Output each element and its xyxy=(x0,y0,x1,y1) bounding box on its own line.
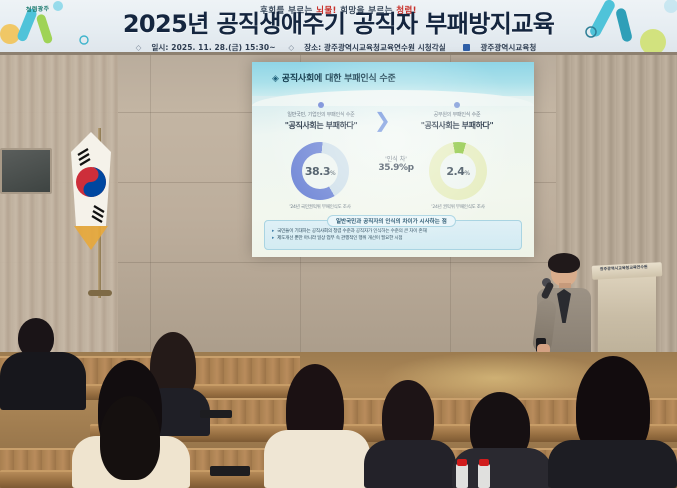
photo-scene: 청렴광주 후회를 부르는 뇌물! 희망을 부르는 청렴! 2025년 공직생애주… xyxy=(0,0,677,488)
tablet-device xyxy=(200,410,232,418)
slide-title-bullet-icon: ◈ xyxy=(272,74,279,84)
right-caption: 공무원의 부패인식 수준 xyxy=(402,111,512,118)
slide-title: ◈공직사회에 대한 부패인식 수준 xyxy=(272,71,396,84)
taegukgi-icon xyxy=(66,130,116,255)
event-banner: 청렴광주 후회를 부르는 뇌물! 희망을 부르는 청렴! 2025년 공직생애주… xyxy=(0,0,677,55)
donut-left-source: '24년 국민권익위 부패인식도 조사 xyxy=(274,204,366,210)
right-quote: "공직사회는 부패하다" xyxy=(402,120,512,131)
insight-tab-label: 일반국민과 공직자의 인식의 차이가 시사하는 점 xyxy=(327,215,456,227)
donut-left-value: 38.3% xyxy=(305,165,335,178)
donut-right-source: '24년 권익위 부패인식도 조사 xyxy=(412,204,504,210)
donut-chart-left: 38.3% '24년 국민권익위 부패인식도 조사 xyxy=(274,142,366,210)
donut-right-ring: 2.4% xyxy=(429,142,487,200)
list-item: 국민들이 기대하는 공직사회의 청렴 수준과 공직자가 인식하는 수준의 큰 차… xyxy=(272,228,521,235)
tablet-device xyxy=(210,466,250,476)
insight-bullet-list: 국민들이 기대하는 공직사회의 청렴 수준과 공직자가 인식하는 수준의 큰 차… xyxy=(272,228,521,242)
banner-date: 일시: 2025. 11. 28.(금) 15:30~ xyxy=(151,43,275,52)
banner-subtitle: ◇일시: 2025. 11. 28.(금) 15:30~ ◇장소: 광주광역시교… xyxy=(0,42,677,53)
podium-top: 광주광역시교육청교육연수원 xyxy=(592,262,663,280)
bottle-cap-icon xyxy=(479,459,489,466)
projection-screen: ◈공직사회에 대한 부패인식 수준 일반국민, 기업인의 부패인식 수준 "공직… xyxy=(252,62,534,257)
donut-chart-right: 2.4% '24년 권익위 부패인식도 조사 xyxy=(412,142,504,210)
insight-box: 일반국민과 공직자의 인식의 차이가 시사하는 점 국민들이 기대하는 공직사회… xyxy=(264,220,522,250)
wall-panel xyxy=(0,148,52,194)
left-caption: 일반국민, 기업인의 부패인식 수준 xyxy=(266,111,376,118)
slide-left-column: 일반국민, 기업인의 부패인식 수준 "공직사회는 부패하다" xyxy=(266,102,376,131)
slide-right-column: 공무원의 부패인식 수준 "공직사회는 부패하다" xyxy=(402,102,512,131)
bottle-cap-icon xyxy=(457,459,467,466)
water-bottle xyxy=(478,464,490,488)
banner-place: 장소: 광주광역시교육청교육연수원 시청각실 xyxy=(304,43,446,52)
presenter-hair xyxy=(548,253,580,273)
water-bottle xyxy=(456,464,468,488)
org-logo-icon xyxy=(463,44,470,51)
banner-title: 2025년 공직생애주기 공직자 부패방지교육 xyxy=(0,11,677,37)
list-item: 제도개선 뿐만 아니라 일상 업무 속 관행적인 행위 개선이 필요한 시점 xyxy=(272,235,521,242)
podium-label: 광주광역시교육청교육연수원 xyxy=(600,264,648,272)
left-quote: "공직사회는 부패하다" xyxy=(266,120,376,131)
donut-right-value: 2.4% xyxy=(446,165,469,178)
right-marker-dot-icon xyxy=(454,102,460,108)
banner-org: 광주광역시교육청 xyxy=(480,43,536,52)
comparison-arrow-icon: ❯ xyxy=(374,110,391,130)
left-marker-dot-icon xyxy=(318,102,324,108)
donut-left-ring: 38.3% xyxy=(291,142,349,200)
